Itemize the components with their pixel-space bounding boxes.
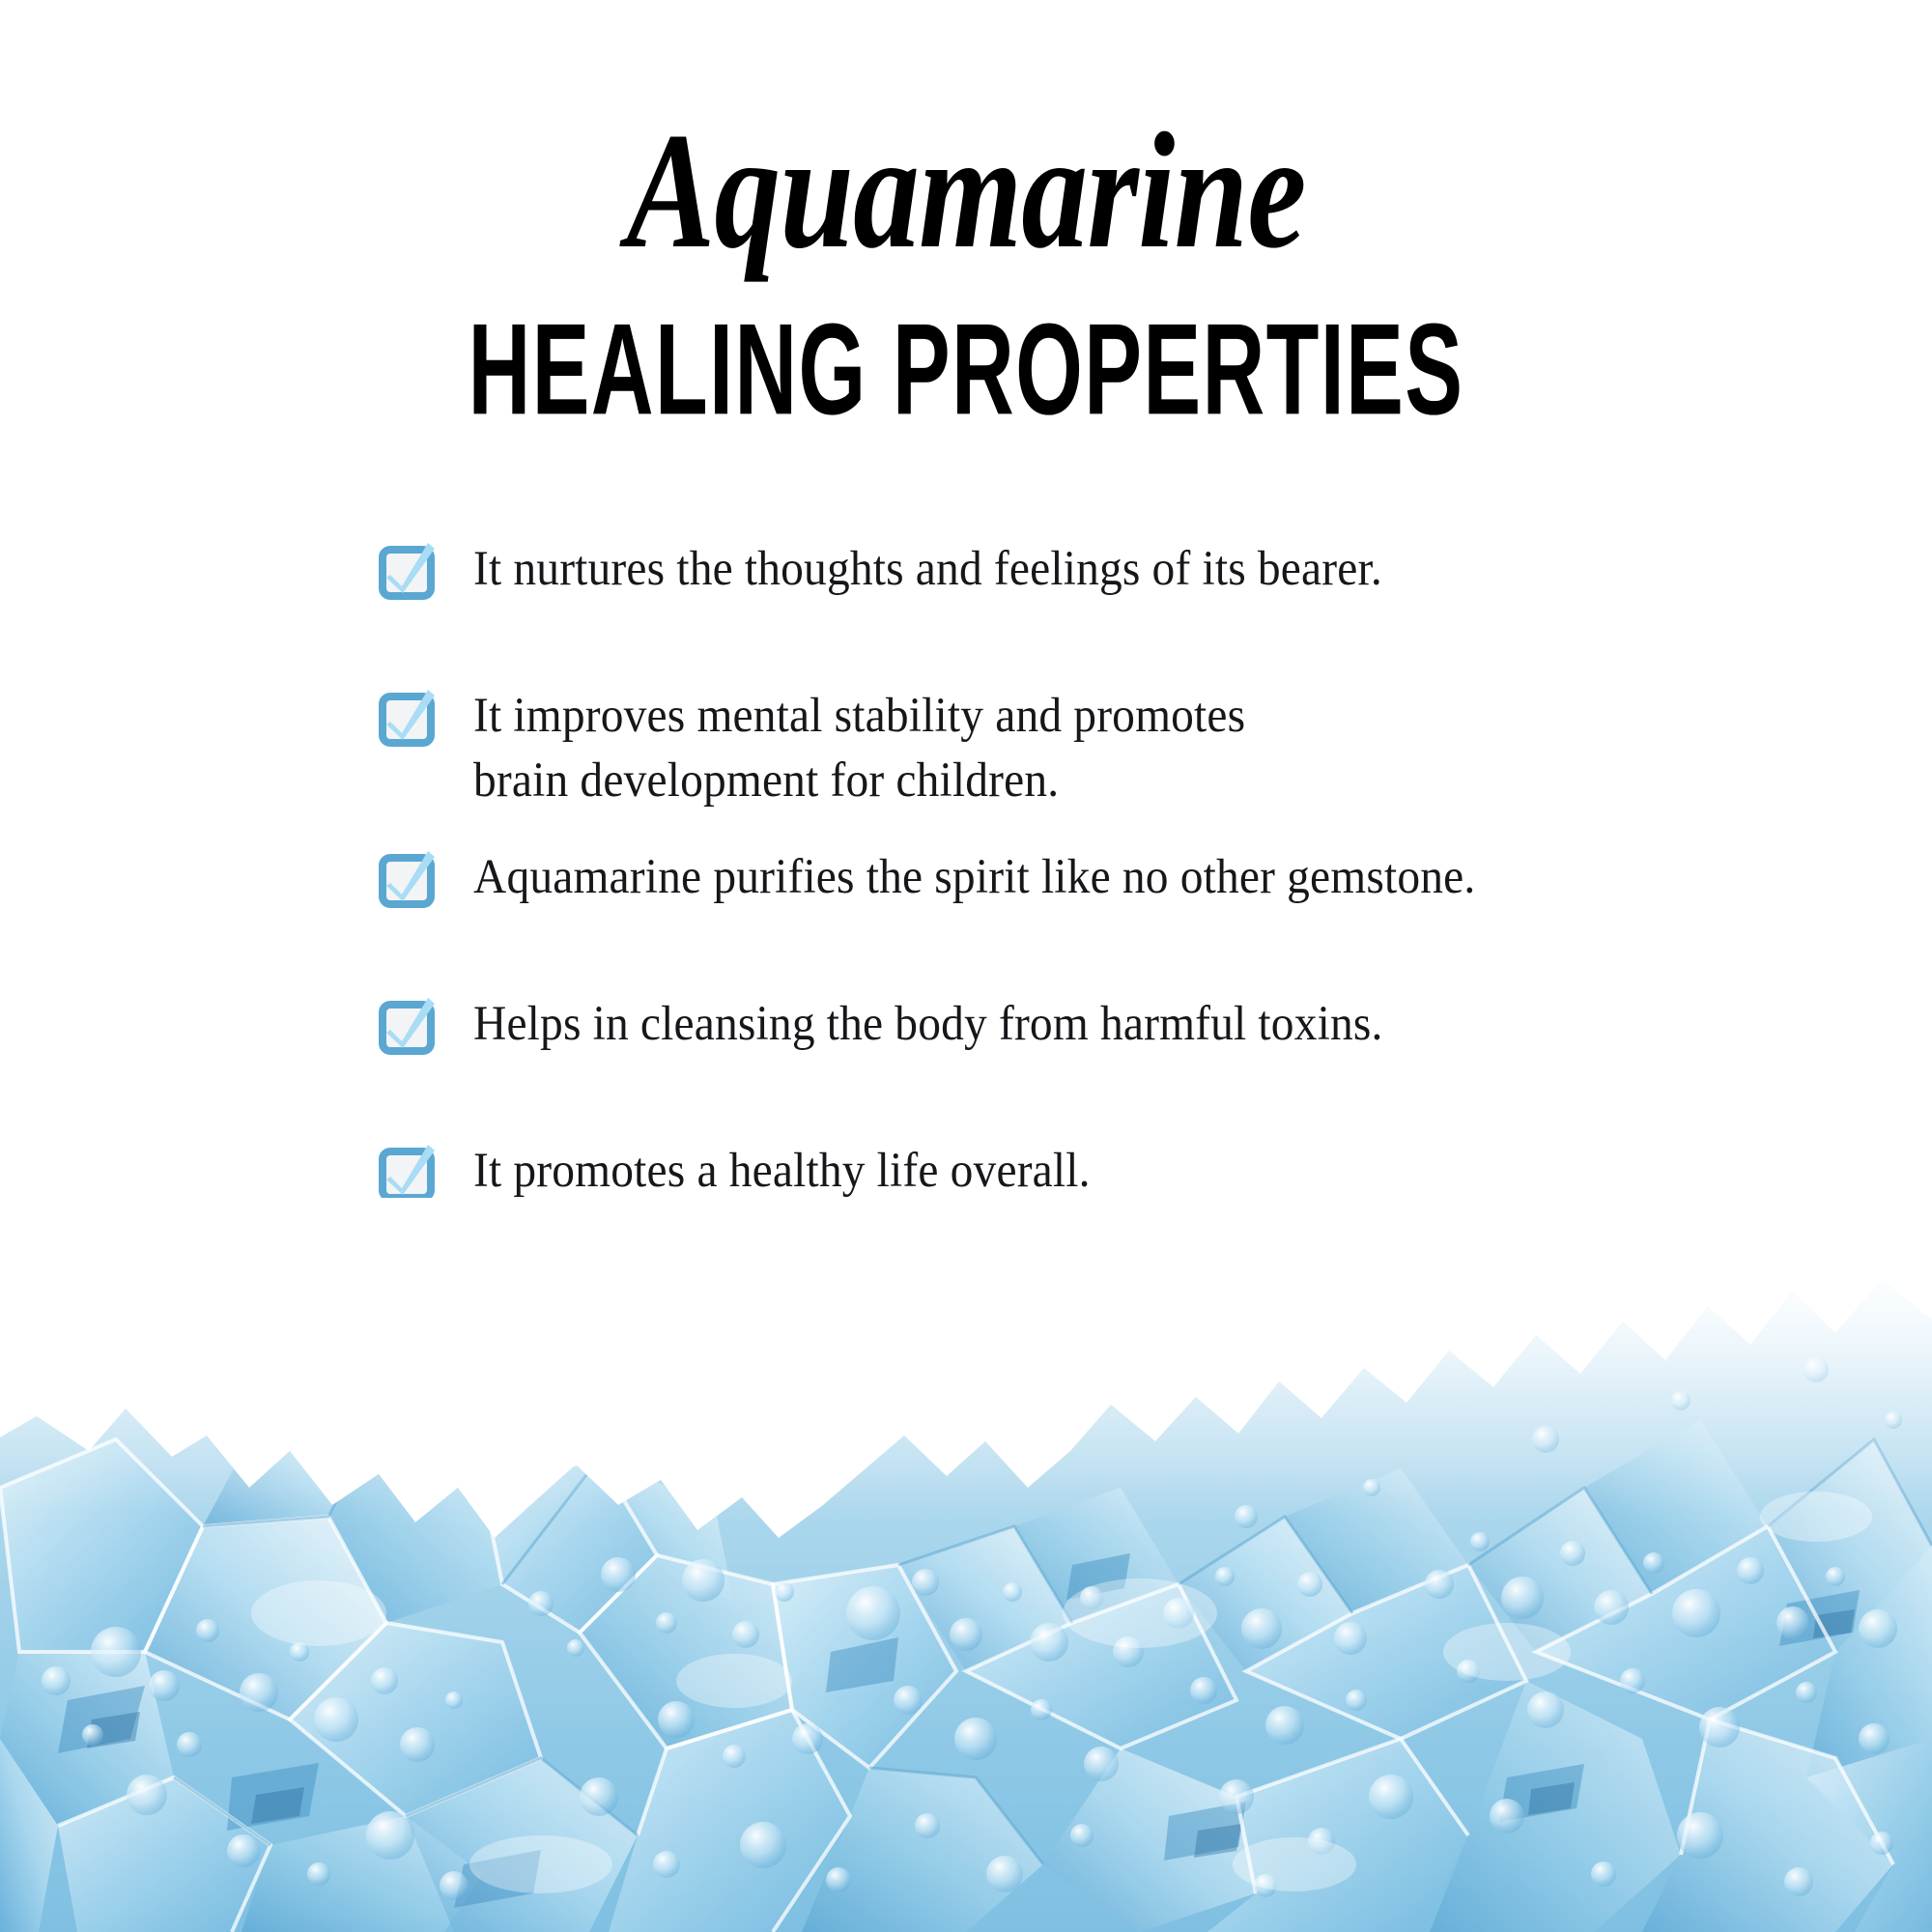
list-item-label: Helps in cleansing the body from harmful… (473, 992, 1383, 1056)
healing-properties-list: It nurtures the thoughts and feelings of… (379, 537, 1750, 1204)
list-item: It promotes a healthy life overall. (379, 1139, 1750, 1203)
list-item-label: It improves mental stability and promote… (473, 684, 1245, 812)
checked-checkbox-icon (379, 545, 435, 601)
page-subtitle: HEALING PROPERTIES (290, 305, 1642, 435)
list-item: It nurtures the thoughts and feelings of… (379, 537, 1750, 601)
poster-header: Aquamarine HEALING PROPERTIES (0, 0, 1932, 429)
checked-checkbox-icon (379, 1000, 435, 1056)
list-item: Aquamarine purifies the spirit like no o… (379, 845, 1750, 909)
page-title: Aquamarine (193, 108, 1739, 274)
list-item-label: Aquamarine purifies the spirit like no o… (473, 845, 1475, 909)
checked-checkbox-icon (379, 1147, 435, 1203)
list-item: It improves mental stability and promote… (379, 684, 1750, 812)
poster-canvas: Aquamarine HEALING PROPERTIES It nurture… (0, 0, 1932, 1932)
list-item: Helps in cleansing the body from harmful… (379, 992, 1750, 1056)
checked-checkbox-icon (379, 692, 435, 748)
ice-cubes-photo (0, 1198, 1932, 1932)
list-item-label: It nurtures the thoughts and feelings of… (473, 537, 1382, 601)
list-item-label: It promotes a healthy life overall. (473, 1139, 1091, 1203)
checked-checkbox-icon (379, 853, 435, 909)
